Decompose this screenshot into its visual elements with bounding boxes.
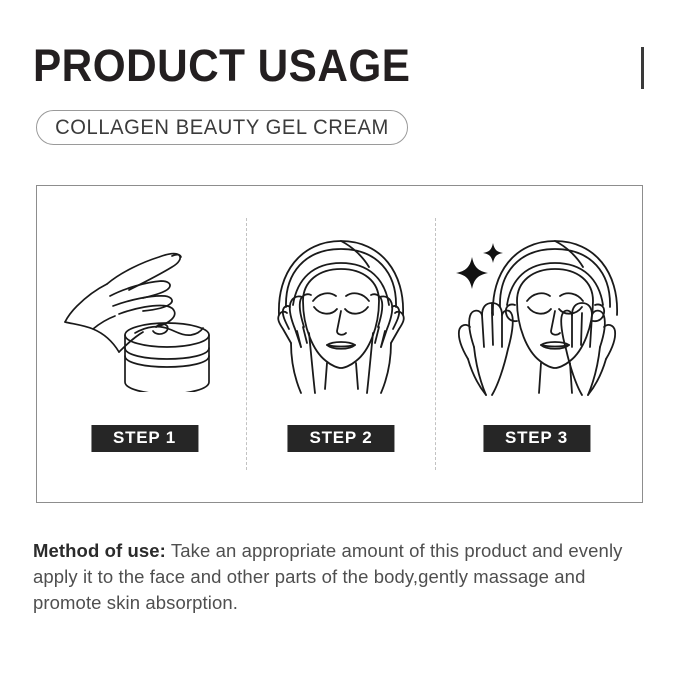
page-title: PRODUCT USAGE — [33, 38, 410, 94]
hand-with-cream-jar-icon — [47, 214, 242, 409]
step-badge-1: STEP 1 — [91, 425, 198, 452]
step-column-3: STEP 3 — [439, 186, 634, 502]
step-badge-2: STEP 2 — [287, 425, 394, 452]
step-divider-1 — [246, 218, 247, 470]
product-name-pill: COLLAGEN BEAUTY GEL CREAM — [36, 110, 408, 145]
face-massage-icon — [250, 214, 432, 409]
method-of-use-label: Method of use: — [33, 540, 166, 561]
step-divider-2 — [435, 218, 436, 470]
sparkle-large-icon — [456, 257, 488, 289]
sparkle-small-icon — [483, 243, 503, 263]
step-column-1: STEP 1 — [47, 186, 242, 502]
product-name-label: COLLAGEN BEAUTY GEL CREAM — [44, 111, 399, 144]
step-badge-3: STEP 3 — [483, 425, 590, 452]
method-of-use-paragraph: Method of use: Take an appropriate amoun… — [33, 538, 645, 616]
steps-panel: STEP 1 — [36, 185, 643, 503]
step-column-2: STEP 2 — [250, 186, 432, 502]
glowing-skin-icon — [439, 214, 634, 409]
title-accent-tick-icon — [641, 47, 644, 89]
